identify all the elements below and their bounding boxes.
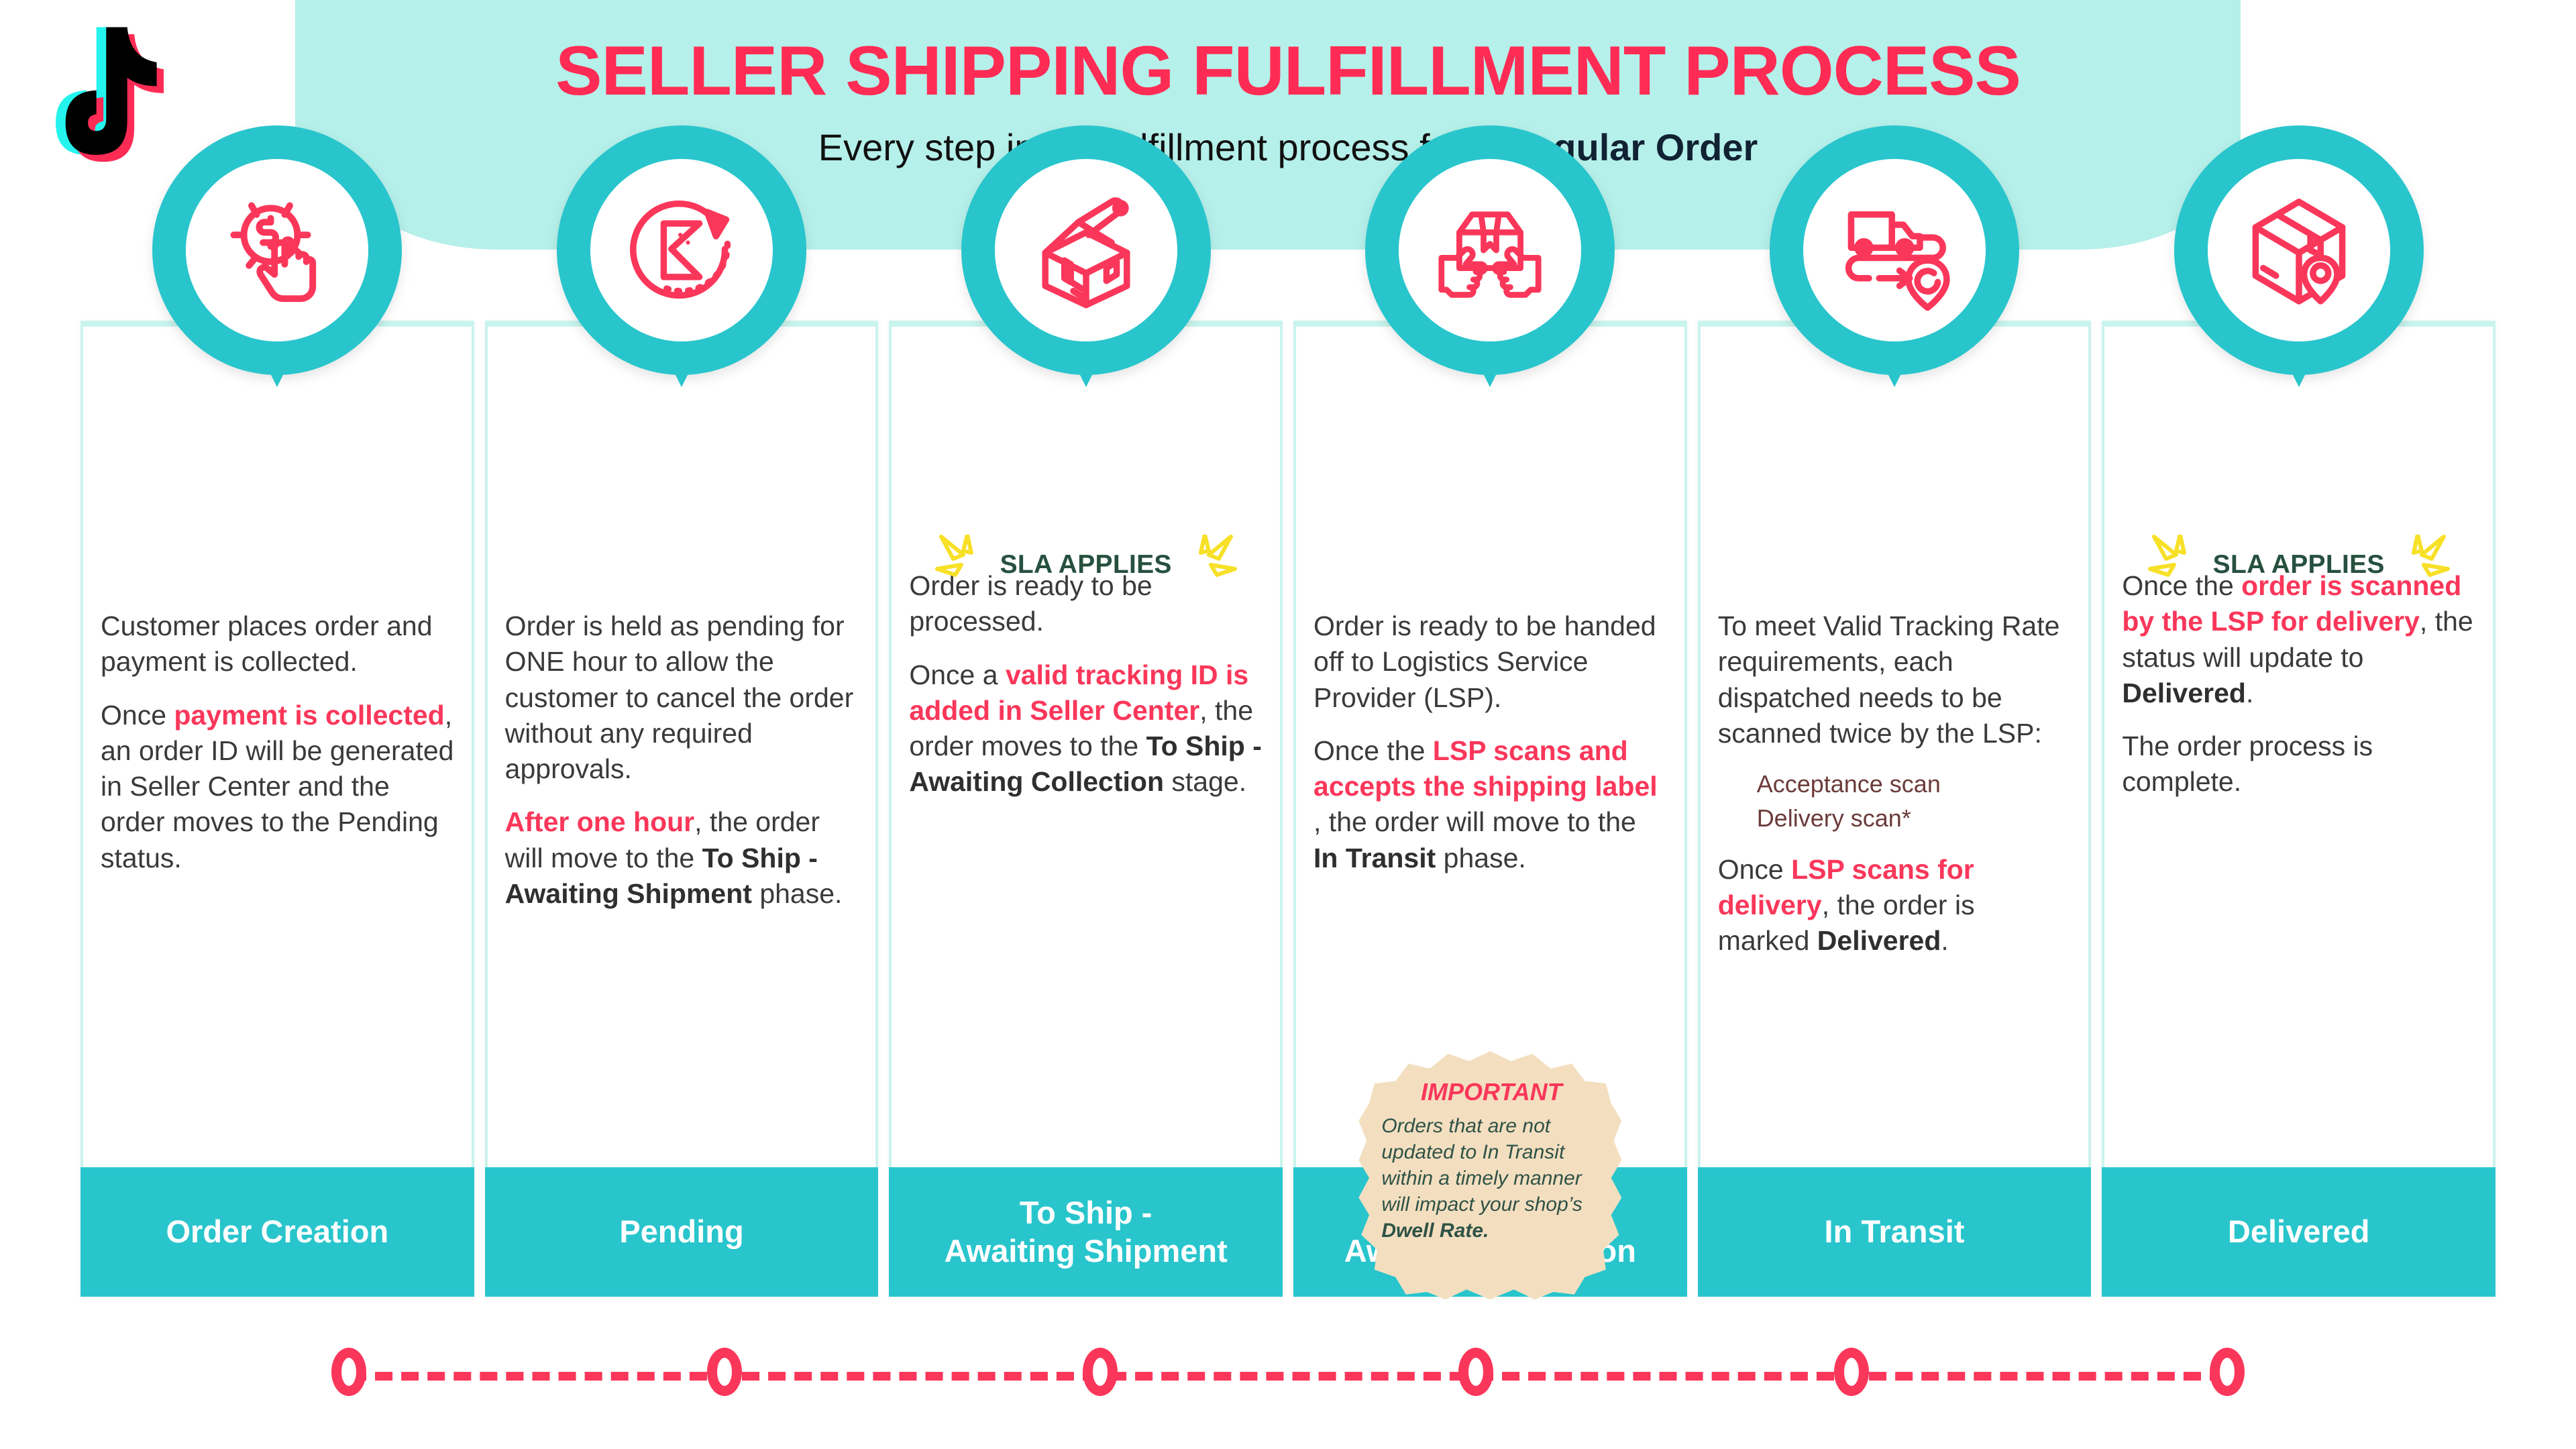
process-steps-row: Customer places order and payment is col… bbox=[80, 321, 2495, 1297]
status-footer-label: Order Creation bbox=[80, 1167, 474, 1297]
bubble-tail bbox=[1870, 339, 1919, 387]
body-text: The order process is complete. bbox=[2122, 731, 2373, 797]
important-body-emphasis: Dwell Rate. bbox=[1381, 1220, 1489, 1242]
process-step-card: To meet Valid Tracking Rate requirements… bbox=[1698, 321, 2092, 1297]
body-text: Once bbox=[101, 700, 174, 731]
body-text: Once a bbox=[909, 659, 1006, 690]
bubble-tail bbox=[657, 339, 706, 387]
bubble-tail bbox=[1062, 339, 1110, 387]
truck-route-pin-icon bbox=[1803, 159, 1986, 341]
body-text: Once bbox=[1718, 854, 1791, 885]
body-text: Delivery scan* bbox=[1757, 804, 1911, 832]
status-footer-row: Order CreationPendingTo Ship - Awaiting … bbox=[80, 1167, 2495, 1297]
timeline-dot bbox=[1834, 1348, 1869, 1396]
body-text: Order is ready to be handed off to Logis… bbox=[1313, 610, 1656, 713]
step-paragraph: Once payment is collected, an order ID w… bbox=[101, 698, 454, 876]
page-subtitle: Every step in the fulfillment process fo… bbox=[818, 125, 1758, 169]
body-text: To meet Valid Tracking Rate requirements… bbox=[1718, 610, 2060, 749]
step-icon-bubble bbox=[961, 125, 1211, 375]
body-text: . bbox=[1941, 925, 1948, 956]
step-paragraph: Acceptance scan bbox=[1757, 769, 2072, 800]
bold-text: In Transit bbox=[1313, 843, 1436, 873]
body-text: Order is held as pending for ONE hour to… bbox=[505, 610, 854, 784]
body-text: Acceptance scan bbox=[1757, 770, 1941, 798]
step-paragraph: Order is held as pending for ONE hour to… bbox=[505, 608, 859, 787]
body-text: stage. bbox=[1164, 766, 1246, 797]
timeline-dot bbox=[2210, 1348, 2245, 1396]
step-icon-bubble bbox=[152, 125, 402, 375]
important-title: IMPORTANT bbox=[1381, 1078, 1601, 1106]
body-text: phase. bbox=[1436, 843, 1526, 873]
timeline-dot bbox=[1083, 1348, 1118, 1396]
step-paragraph: Once LSP scans for delivery, the order i… bbox=[1718, 852, 2072, 959]
status-footer-label: Pending bbox=[485, 1167, 879, 1297]
step-icon-bubble bbox=[2174, 125, 2424, 375]
sla-applies-label: SLA APPLIES bbox=[2213, 550, 2385, 580]
step-paragraph: After one hour, the order will move to t… bbox=[505, 804, 859, 912]
body-text: Once the bbox=[1313, 735, 1433, 766]
process-step-card: SLA APPLIES Once the order is scanned by… bbox=[2102, 321, 2495, 1297]
step-body: Once the order is scanned by the LSP for… bbox=[2104, 327, 2493, 1297]
step-paragraph: Order is ready to be handed off to Logis… bbox=[1313, 608, 1667, 716]
step-body: Customer places order and payment is col… bbox=[83, 327, 472, 1297]
sla-applies-badge: SLA APPLIES bbox=[2147, 535, 2451, 594]
timeline-dot bbox=[707, 1348, 742, 1396]
timeline-rail bbox=[349, 1372, 2227, 1381]
page-title: SELLER SHIPPING FULFILLMENT PROCESS bbox=[555, 35, 2021, 108]
bubble-tail bbox=[253, 339, 301, 387]
sealed-box-icon bbox=[995, 159, 1177, 341]
bold-text: Delivered bbox=[2122, 678, 2246, 708]
bold-text: Delivered bbox=[1817, 925, 1941, 956]
important-callout: IMPORTANT Orders that are not updated to… bbox=[1358, 1051, 1621, 1299]
status-footer-label: Delivered bbox=[2102, 1167, 2495, 1297]
sparkle-left-icon bbox=[934, 535, 996, 594]
box-location-pin-icon bbox=[2208, 159, 2390, 341]
bubble-tail bbox=[1466, 339, 1514, 387]
step-paragraph: The order process is complete. bbox=[2122, 729, 2475, 800]
highlight-text: payment is collected bbox=[174, 700, 444, 731]
body-text: , the order will move to the bbox=[1313, 806, 1636, 837]
process-step-card: Order is ready to be handed off to Logis… bbox=[1293, 321, 1687, 1297]
important-body: Orders that are not updated to In Transi… bbox=[1381, 1113, 1601, 1244]
step-paragraph: Customer places order and payment is col… bbox=[101, 608, 454, 680]
body-text: phase. bbox=[752, 878, 843, 909]
sparkle-right-icon bbox=[1176, 535, 1238, 594]
highlight-text: After one hour bbox=[505, 806, 694, 837]
process-step-card: SLA APPLIES Order is ready to be process… bbox=[889, 321, 1283, 1297]
step-paragraph: Once a valid tracking ID is added in Sel… bbox=[909, 657, 1263, 800]
step-icon-bubble bbox=[1365, 125, 1615, 375]
hands-holding-box-icon bbox=[1399, 159, 1581, 341]
sparkle-left-icon bbox=[2147, 535, 2209, 594]
status-footer-label: In Transit bbox=[1698, 1167, 2092, 1297]
status-footer-label: To Ship - Awaiting Shipment bbox=[889, 1167, 1283, 1297]
step-body: To meet Valid Tracking Rate requirements… bbox=[1701, 327, 2089, 1297]
step-paragraph: To meet Valid Tracking Rate requirements… bbox=[1718, 608, 2072, 751]
step-paragraph: Once the LSP scans and accepts the shipp… bbox=[1313, 733, 1667, 876]
step-body: Order is held as pending for ONE hour to… bbox=[488, 327, 876, 1297]
step-body: Order is ready to be handed off to Logis… bbox=[1296, 327, 1684, 1297]
timeline-dot bbox=[1458, 1348, 1493, 1396]
body-text: . bbox=[2246, 678, 2253, 708]
hourglass-refresh-icon bbox=[590, 159, 773, 341]
sla-applies-badge: SLA APPLIES bbox=[934, 535, 1238, 594]
step-icon-bubble bbox=[1770, 125, 2019, 375]
timeline-dot bbox=[331, 1348, 366, 1396]
coin-click-icon bbox=[186, 159, 368, 341]
bubble-tail bbox=[2275, 339, 2323, 387]
process-timeline bbox=[80, 1335, 2495, 1409]
process-step-card: Order is held as pending for ONE hour to… bbox=[485, 321, 879, 1297]
process-step-card: Customer places order and payment is col… bbox=[80, 321, 474, 1297]
sparkle-right-icon bbox=[2389, 535, 2451, 594]
step-icon-bubble bbox=[557, 125, 806, 375]
step-paragraph: Delivery scan* bbox=[1757, 803, 2072, 835]
step-body: Order is ready to be processed.Once a va… bbox=[892, 327, 1280, 1297]
body-text: Customer places order and payment is col… bbox=[101, 610, 433, 677]
sla-applies-label: SLA APPLIES bbox=[1000, 550, 1172, 580]
important-content: IMPORTANT Orders that are not updated to… bbox=[1381, 1078, 1601, 1244]
